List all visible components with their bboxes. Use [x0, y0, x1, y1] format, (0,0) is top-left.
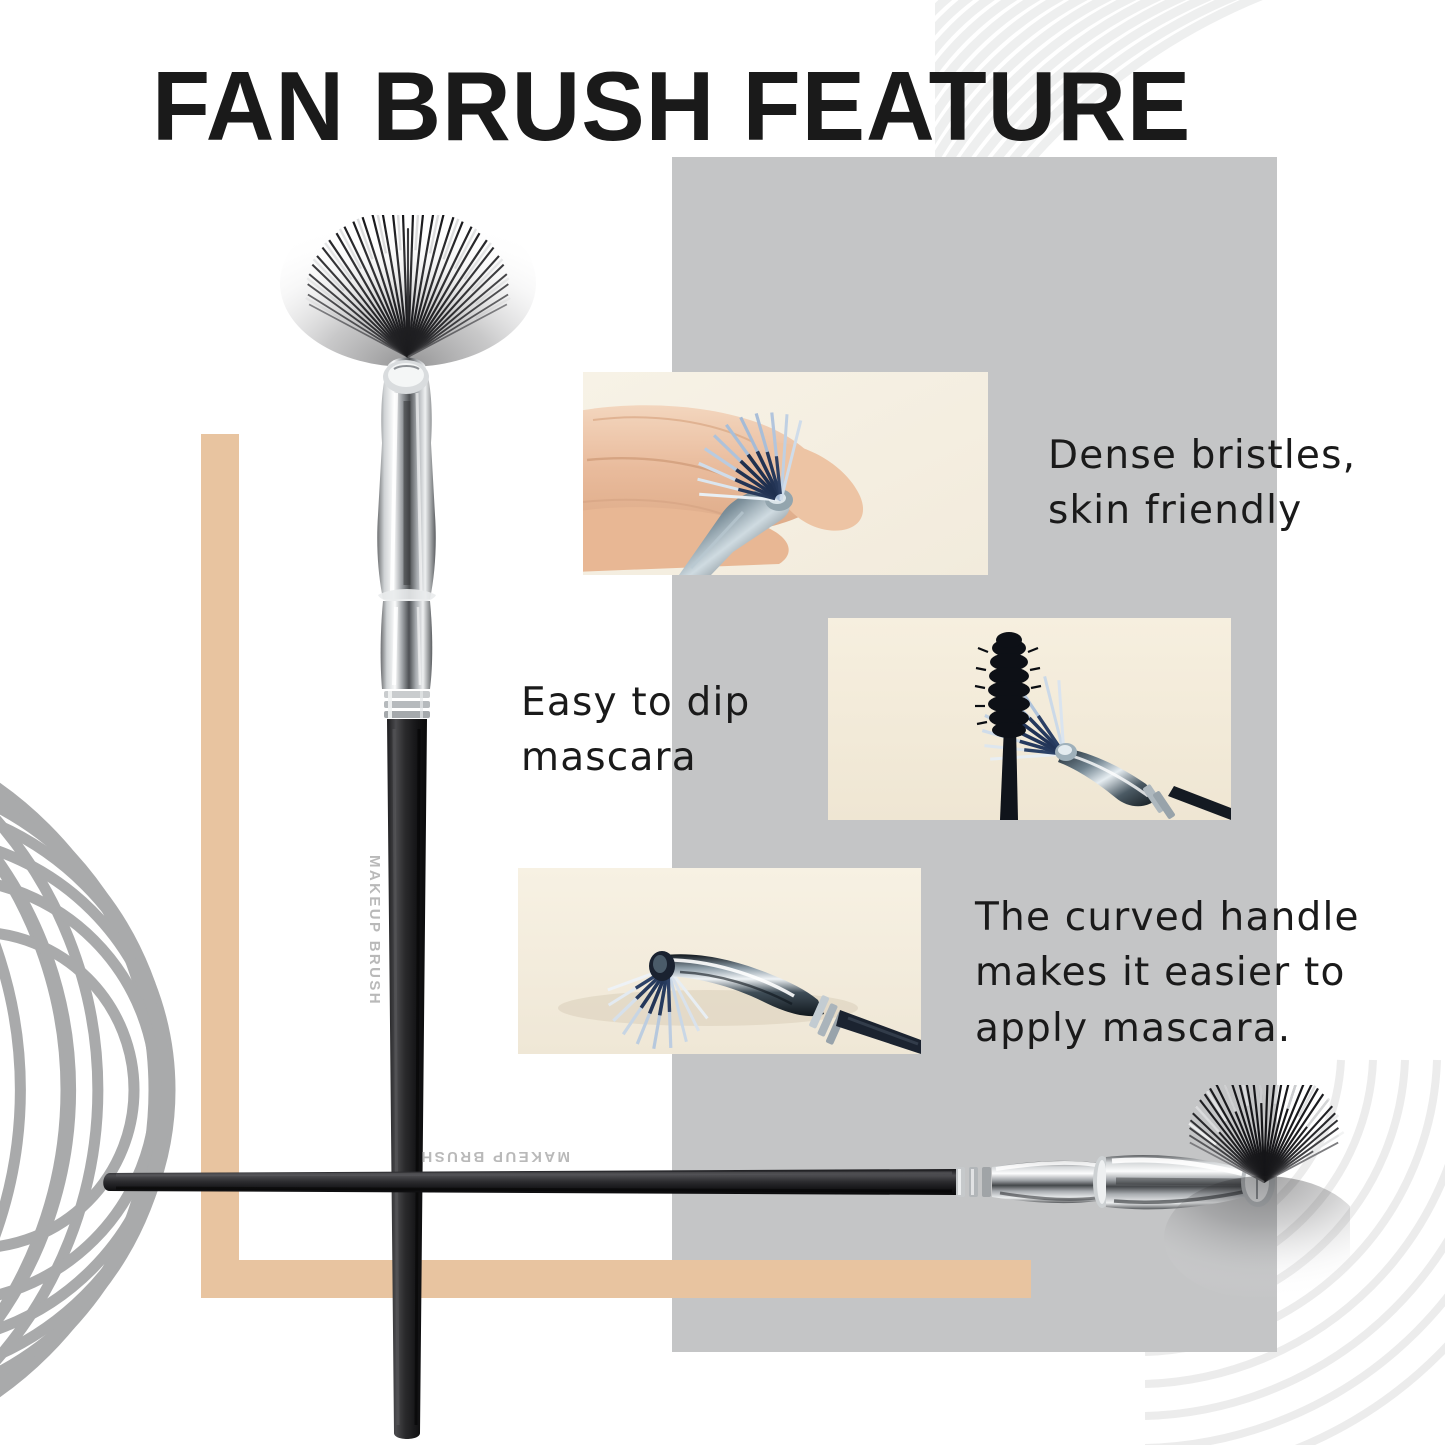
photo-finger-pinching-fan-brush [583, 372, 988, 575]
brush-handle [387, 719, 427, 1439]
page-title: FAN BRUSH FEATURE [152, 57, 1297, 155]
horizontal-brush-handle-label: MAKEUP BRUSH [419, 1148, 570, 1165]
fan-bristles [280, 215, 536, 367]
brush-handle [103, 1169, 956, 1195]
photo-mascara-wand-on-fan-brush [828, 618, 1231, 820]
ferrule-crimp-rings [956, 1167, 991, 1197]
caption-easy-to-dip: Easy to dip mascara [521, 675, 750, 786]
caption-curved-handle: The curved handle makes it easier to app… [975, 890, 1360, 1056]
chrome-ferrule [377, 358, 436, 719]
photo-fan-brush-curved-ferrule [518, 868, 921, 1054]
vertical-brush-handle-label: MAKEUP BRUSH [366, 855, 383, 1006]
horizontal-fan-brush [100, 1085, 1350, 1325]
poster-canvas: FAN BRUSH FEATURE [0, 0, 1445, 1445]
caption-dense-bristles: Dense bristles, skin friendly [1048, 428, 1356, 539]
